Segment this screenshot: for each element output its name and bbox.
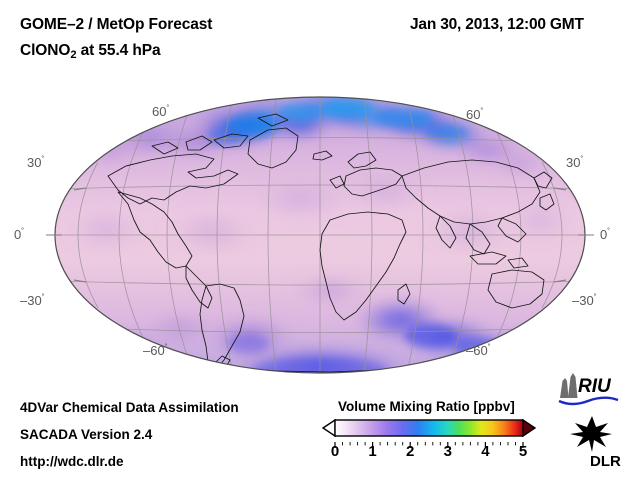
degree-symbol-icon: ˚ — [21, 227, 24, 237]
degree-symbol-icon: ˚ — [594, 293, 597, 303]
lat-label-left-minus30: –30˚ — [20, 293, 45, 308]
riu-wave-icon — [559, 398, 618, 404]
colorbar-title: Volume Mixing Ratio [ppbv] — [338, 399, 515, 414]
version-label: SACADA Version 2.4 — [20, 427, 152, 442]
riu-logo: RIU — [556, 372, 620, 408]
degree-symbol-icon: ˚ — [42, 293, 45, 303]
lat-label-right-minus60: –60˚ — [466, 343, 491, 358]
map-panel: 60˚ 60˚ 30˚ 30˚ 0˚ 0˚ –30˚ –30˚ –60˚ –60… — [0, 80, 640, 390]
colorbar-extend-min-icon — [323, 420, 335, 436]
dlr-wordmark: DLR — [590, 453, 621, 470]
dlr-emblem-icon — [570, 416, 612, 452]
page-title: GOME–2 / MetOp Forecast — [20, 16, 212, 34]
mollweide-map — [0, 80, 640, 390]
lat-label-right-60: 60˚ — [466, 107, 483, 122]
degree-symbol-icon: ˚ — [480, 107, 483, 117]
figure-canvas: GOME–2 / MetOp Forecast ClONO2 at 55.4 h… — [0, 0, 640, 480]
colorbar-tick-2: 2 — [406, 443, 414, 460]
degree-symbol-icon: ˚ — [580, 155, 583, 165]
lat-label-right-minus30: –30˚ — [572, 293, 597, 308]
website-link[interactable]: http://wdc.dlr.de — [20, 454, 124, 469]
species-level: at 55.4 hPa — [76, 42, 160, 59]
colorbar-tick-0: 0 — [331, 443, 339, 460]
method-label: 4DVar Chemical Data Assimilation — [20, 400, 239, 415]
species-title: ClONO2 at 55.4 hPa — [20, 42, 161, 61]
colorbar-tick-5: 5 — [519, 443, 527, 460]
riu-tower-icon — [560, 373, 578, 398]
degree-symbol-icon: ˚ — [165, 343, 168, 353]
lat-label-right-30: 30˚ — [566, 155, 583, 170]
map-data-layer — [50, 90, 600, 386]
colorbar-tick-1: 1 — [368, 443, 376, 460]
lat-label-left-30: 30˚ — [27, 155, 44, 170]
riu-wordmark: RIU — [578, 376, 612, 397]
degree-symbol-icon: ˚ — [607, 227, 610, 237]
species-name: ClONO — [20, 42, 70, 59]
degree-symbol-icon: ˚ — [488, 343, 491, 353]
colorbar-tick-labels: 0 1 2 3 4 5 — [322, 443, 536, 463]
colorbar-tick-4: 4 — [481, 443, 489, 460]
lat-label-left-0: 0˚ — [14, 227, 24, 242]
degree-symbol-icon: ˚ — [166, 104, 169, 114]
colorbar-extend-max-icon — [523, 420, 535, 436]
colorbar[interactable] — [322, 419, 536, 437]
colorbar-tick-3: 3 — [444, 443, 452, 460]
lat-label-right-0: 0˚ — [600, 227, 610, 242]
dlr-logo: DLR — [562, 414, 624, 470]
lat-label-left-60: 60˚ — [152, 104, 169, 119]
timestamp-label: Jan 30, 2013, 12:00 GMT — [410, 16, 584, 34]
degree-symbol-icon: ˚ — [41, 155, 44, 165]
lat-label-left-minus60: –60˚ — [143, 343, 168, 358]
instrument-label: GOME–2 / MetOp Forecast — [20, 16, 212, 33]
